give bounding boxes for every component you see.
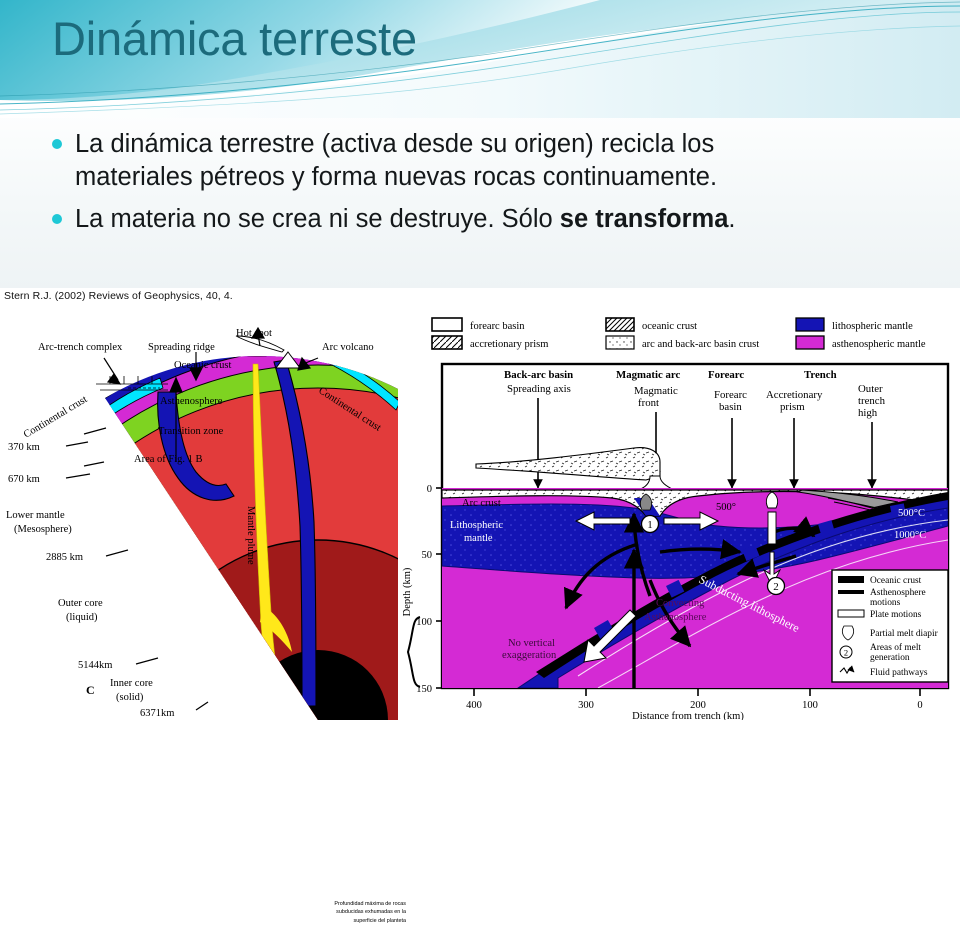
label-hot-spot: Hot spot [236,328,272,339]
bullet-line-1a: La dinámica terrestre (activa desde su o… [75,130,714,158]
legend-label-forearc-basin: forearc basin [470,321,525,332]
label-depth-2885: 2885 km [46,552,83,563]
legend-inner-oceanic-crust: Oceanic crust [870,576,922,586]
label-accretionary-prism-2: prism [780,401,805,413]
ytick-0: 0 [427,484,432,495]
label-forearc-basin-2: basin [719,401,742,413]
label-trench: Trench [804,369,837,381]
label-outer-trench-high-1: Outer [858,383,883,395]
label-outer-trench-high-3: high [858,407,878,419]
figure-image-area: Stern R.J. (2002) Reviews of Geophysics,… [0,288,960,720]
bullet-2-prefix: La materia no se crea ni se destruye. Só… [75,205,560,233]
bullet-marker-icon [52,214,62,224]
legend-inner-fluid-pathways: Fluid pathways [870,668,928,678]
label-forearc-basin-1: Forearc [714,389,747,401]
label-mantle-plume: Mantle plume [245,506,256,565]
label-inner-core: Inner core [110,678,153,689]
label-arc-volcano: Arc volcano [322,342,374,353]
label-lithospheric-mantle-1: Lithospheric [450,520,503,531]
bullet-2-emphasis: se transforma [560,205,729,233]
earth-cross-section-diagram: Arc-trench complex Spreading ridge Hot s… [0,306,400,720]
label-lithospheric-mantle-2: mantle [464,533,493,544]
label-outer-core: Outer core [58,598,103,609]
label-arc-trench-complex: Arc-trench complex [38,342,123,353]
legend-swatch-lithospheric-mantle [796,318,824,331]
marker-1-label: 1 [647,519,653,531]
legend-label-lithospheric-mantle: lithospheric mantle [832,321,913,332]
label-isotherm-500: 500°C [898,508,925,519]
ytick-50: 50 [422,550,433,561]
legend-swatch-arc-backarc-crust [606,336,634,349]
label-depth-5144: 5144km [78,660,112,671]
xtick-200: 200 [690,700,706,711]
legend-label-accretionary-prism: accretionary prism [470,339,548,350]
legend-inner-melt-areas-2: generation [870,653,910,663]
slide-canvas: Dinámica terreste La dinámica terrestre … [0,0,960,720]
legend-inner-asth-motions-2: motions [870,598,901,608]
bullet-item-2: La materia no se crea ni se destruye. Só… [52,203,932,236]
label-outer-core-state: (liquid) [66,612,98,623]
label-panel-letter: C [86,683,95,697]
label-depth-670: 670 km [8,474,40,485]
legend-label-asthenospheric-mantle: asthenospheric mantle [832,339,926,350]
legend-label-oceanic-crust: oceanic crust [642,321,697,332]
xtick-100: 100 [802,700,818,711]
legend-swatch-accretionary-prism [432,336,462,349]
bullet-item-1: La dinámica terrestre (activa desde su o… [52,128,932,193]
svg-text:2: 2 [844,648,848,658]
label-depth-6371: 6371km [140,708,174,719]
label-mesosphere: (Mesosphere) [14,524,72,535]
label-depth-370: 370 km [8,442,40,453]
label-lower-mantle: Lower mantle [6,510,65,521]
label-magmatic-front-2: front [638,397,659,409]
label-isotherm-1000: 1000°C [894,530,926,541]
label-no-vert-2: exaggeration [502,650,557,661]
legend-label-arc-backarc-crust: arc and back-arc basin crust [642,339,759,350]
label-magmatic-arc: Magmatic arc [616,369,680,381]
label-convecting-1: Convecting [656,598,705,609]
legend-inner-melt-diapir: Partial melt diapir [870,629,939,639]
label-asthenosphere: Asthenosphere [160,396,223,407]
label-spreading-axis: Spreading axis [507,383,571,395]
marker-2-label: 2 [773,581,779,593]
legend-inner: Oceanic crust Asthenosphere motions Plat… [832,570,948,682]
xaxis-label: Distance from trench (km) [632,711,744,720]
label-spreading-ridge: Spreading ridge [148,342,215,353]
page-title: Dinámica terreste [52,14,417,63]
label-forearc: Forearc [708,369,744,381]
label-inner-core-state: (solid) [116,692,144,703]
bullet-2-suffix: . [728,205,735,233]
label-accretionary-prism-1: Accretionary [766,389,823,401]
label-transition-zone: Transition zone [158,426,224,437]
label-oceanic-crust: Oceanic crust [174,360,232,371]
legend-inner-plate-motions: Plate motions [870,610,922,620]
legend-swatch-oceanic-crust [606,318,634,331]
label-isotherm-500-left: 500° [716,502,736,513]
xtick-300: 300 [578,700,594,711]
bullet-marker-icon [52,139,62,149]
label-outer-trench-high-2: trench [858,395,886,407]
bullet-text-2: La materia no se crea ni se destruye. Só… [75,203,736,236]
label-convecting-2: Asthenosphere [644,612,707,623]
legend-swatch-forearc-basin [432,318,462,331]
figure-citation: Stern R.J. (2002) Reviews of Geophysics,… [4,290,233,302]
xtick-400: 400 [466,700,482,711]
cross-section-body: 1 2 Arc crust Lithospheric mantle Convec… [442,488,948,688]
bullet-text-1: La dinámica terrestre (activa desde su o… [75,128,717,193]
label-no-vert-1: No vertical [508,638,555,649]
yaxis-label: Depth (km) [402,567,413,616]
ytick-100: 100 [416,617,432,628]
legend-inner-melt-areas-1: Areas of melt [870,642,921,653]
xtick-0: 0 [917,700,922,711]
label-back-arc-basin: Back-arc basin [504,369,573,381]
legend-swatch-asthenospheric-mantle [796,336,824,349]
label-magmatic-front-1: Magmatic [634,385,678,397]
spanish-annotation-note: Profundidad máxima de rocas subducidas e… [330,900,406,925]
subduction-zone-diagram: forearc basin accretionary prism oceanic… [398,312,960,720]
bullet-line-1b: materiales pétreos y forma nuevas rocas … [75,163,717,191]
legend-inner-asth-motions-1: Asthenosphere [870,588,926,598]
label-arc-crust: Arc crust [462,498,501,509]
bullet-list: La dinámica terrestre (activa desde su o… [52,128,932,246]
label-area-of-fig: Area of Fig. 1 B [134,454,203,465]
